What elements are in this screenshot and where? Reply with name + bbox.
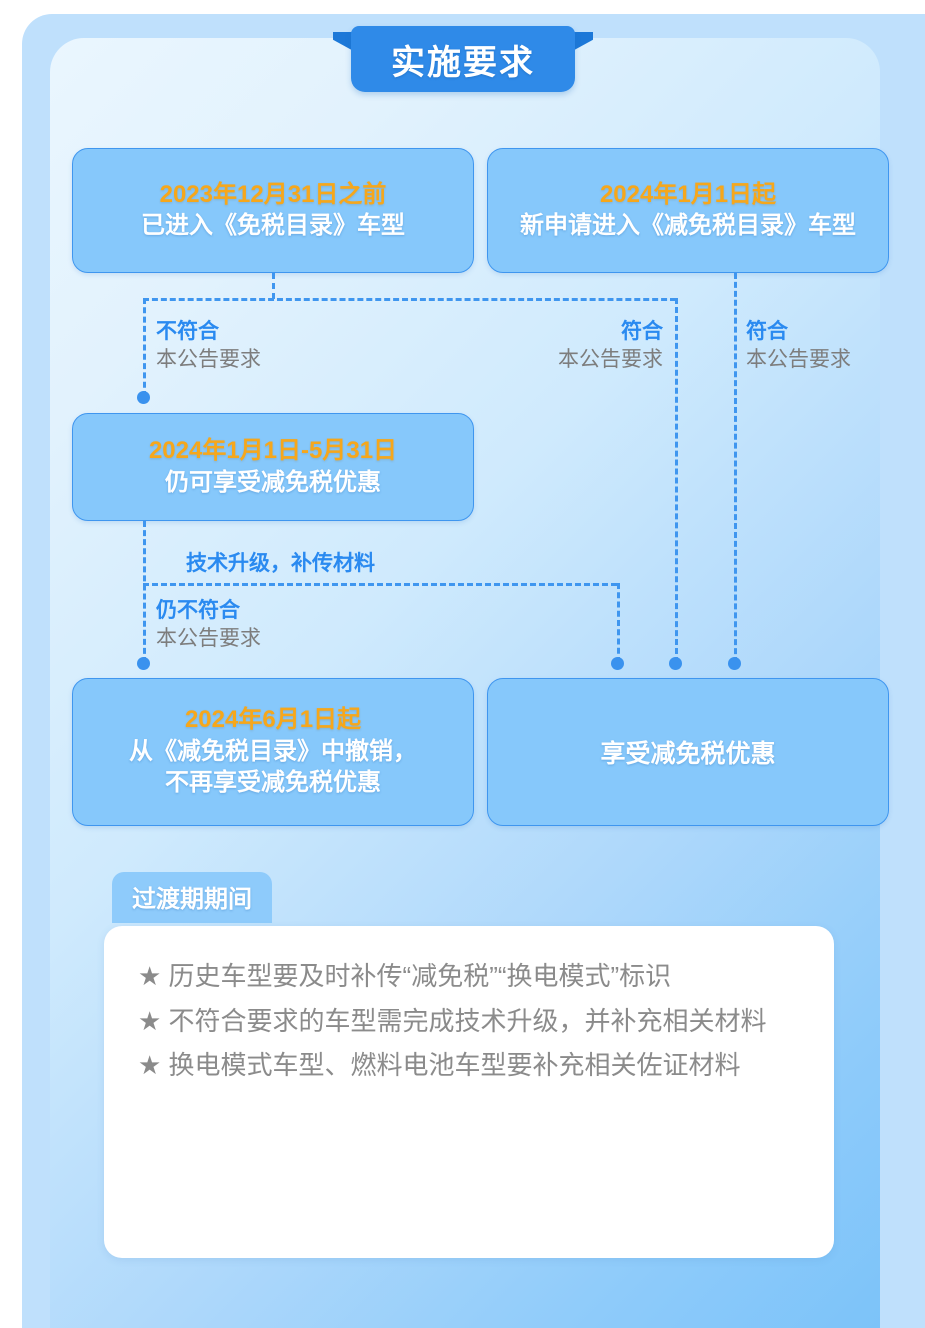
flow-box-a-date: 2023年12月31日之前 — [160, 180, 387, 211]
transition-bullet-2: ★ 不符合要求的车型需完成技术升级，并补充相关材料 — [138, 999, 800, 1044]
transition-tab-label: 过渡期期间 — [112, 872, 272, 923]
flow-box-b-date: 2024年1月1日起 — [600, 180, 776, 211]
edge-label-not-match-sub: 本公告要求 — [156, 346, 261, 374]
flow-box-c[interactable]: 2024年1月1日-5月31日 仍可享受减免税优惠 — [72, 413, 474, 521]
flow-box-c-desc: 仍可享受减免税优惠 — [165, 467, 381, 498]
edge-label-match-right-strong: 符合 — [746, 318, 851, 346]
title-ribbon: 实施要求 — [333, 26, 593, 98]
edge-label-match-left-strong: 符合 — [505, 318, 663, 346]
page-title: 实施要求 — [391, 35, 535, 84]
connector-a-branch — [143, 298, 676, 301]
flow-box-b[interactable]: 2024年1月1日起 新申请进入《减免税目录》车型 — [487, 148, 889, 273]
edge-label-not-match: 不符合 本公告要求 — [156, 318, 261, 373]
flow-box-e-label: 享受减免税优惠 — [600, 734, 775, 770]
connector-dot-a-right — [669, 657, 682, 670]
ribbon-body: 实施要求 — [351, 26, 575, 92]
connector-a-left-leg — [143, 298, 146, 397]
flow-box-d-desc-line1: 从《减免税目录》中撤销， — [129, 736, 417, 767]
edge-label-match-left: 符合 本公告要求 — [505, 318, 663, 373]
connector-dot-c-upgrade — [611, 657, 624, 670]
transition-bullet-3: ★ 换电模式车型、燃料电池车型要补充相关佐证材料 — [138, 1043, 800, 1088]
flow-box-e[interactable]: 享受减免税优惠 — [487, 678, 889, 826]
connector-c-upgrade-branch — [143, 583, 617, 586]
flow-box-d-date: 2024年6月1日起 — [185, 705, 361, 736]
edge-label-upgrade: 技术升级，补传材料 — [186, 547, 375, 577]
edge-label-still-not-match-sub: 本公告要求 — [156, 625, 261, 653]
connector-dot-c — [137, 657, 150, 670]
connector-c-stem — [143, 521, 146, 663]
connector-dot-a-left — [137, 391, 150, 404]
infographic-root: 实施要求 2023年12月31日之前 已进入《免税目录》车型 2024年1月1日… — [0, 0, 925, 1328]
transition-bullet-1: ★ 历史车型要及时补传“减免税”“换电模式”标识 — [138, 954, 800, 999]
edge-label-match-left-sub: 本公告要求 — [505, 346, 663, 374]
edge-label-still-not-match-strong: 仍不符合 — [156, 597, 261, 625]
connector-c-upgrade-leg — [617, 583, 620, 663]
flow-box-c-date: 2024年1月1日-5月31日 — [149, 436, 397, 467]
connector-a-right-leg — [675, 298, 678, 663]
connector-a-stub — [272, 273, 275, 299]
flow-box-a-desc: 已进入《免税目录》车型 — [141, 210, 405, 241]
edge-label-match-right-sub: 本公告要求 — [746, 346, 851, 374]
flow-box-d[interactable]: 2024年6月1日起 从《减免税目录》中撤销， 不再享受减免税优惠 — [72, 678, 474, 826]
connector-dot-b — [728, 657, 741, 670]
flow-box-b-desc: 新申请进入《减免税目录》车型 — [520, 210, 856, 241]
edge-label-match-right: 符合 本公告要求 — [746, 318, 851, 373]
edge-label-still-not-match: 仍不符合 本公告要求 — [156, 597, 261, 652]
flow-box-a[interactable]: 2023年12月31日之前 已进入《免税目录》车型 — [72, 148, 474, 273]
flow-box-d-desc-line2: 不再享受减免税优惠 — [165, 767, 381, 798]
edge-label-not-match-strong: 不符合 — [156, 318, 261, 346]
connector-b-leg — [734, 273, 737, 663]
transition-card: ★ 历史车型要及时补传“减免税”“换电模式”标识 ★ 不符合要求的车型需完成技术… — [104, 926, 834, 1258]
